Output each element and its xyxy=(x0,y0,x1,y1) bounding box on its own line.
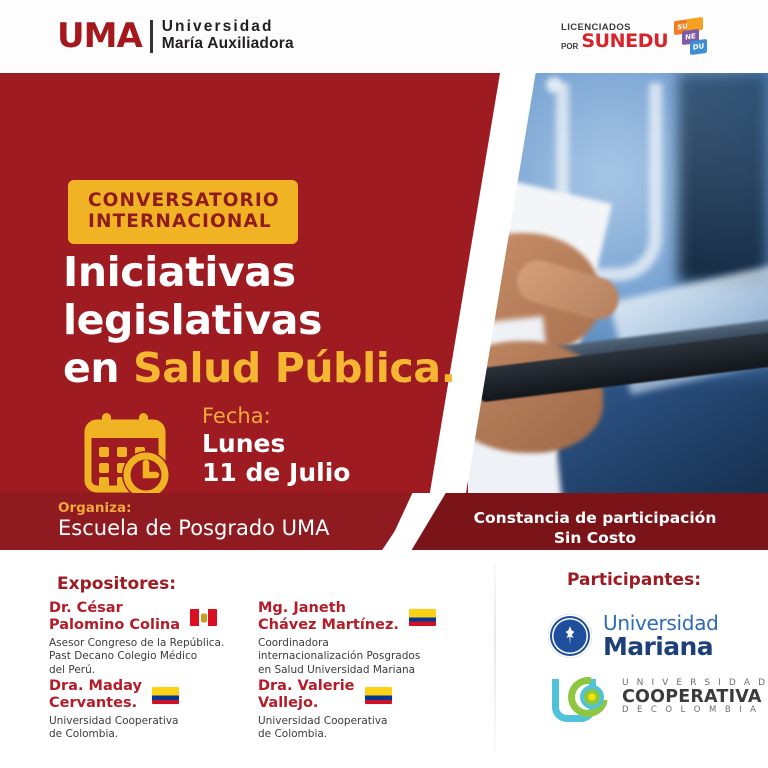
title-line3: en Salud Pública. xyxy=(63,345,463,393)
speaker-name-line2: Vallejo. xyxy=(258,695,355,712)
organizer-value: Escuela de Posgrado UMA xyxy=(58,516,330,542)
ucc-logo-line2: COOPERATIVA xyxy=(622,688,768,706)
title-line3-plain: en xyxy=(63,344,133,392)
universidad-mariana-logo: Universidad Mariana xyxy=(548,613,719,659)
speaker-card: Mg. Janeth Chávez Martínez. Coordinadora… xyxy=(258,600,473,677)
certificate-line2: Sin Costo xyxy=(440,528,750,548)
event-flyer: UMA Universidad María Auxiliadora LICENC… xyxy=(0,0,768,768)
speaker-card: Dra. Valerie Vallejo. Universidad Cooper… xyxy=(258,678,473,742)
speaker-name-line1: Dra. Maday xyxy=(49,678,142,695)
uma-acronym: UMA xyxy=(57,19,142,53)
title-line1: Iniciativas xyxy=(63,249,463,297)
speaker-role: Universidad Cooperativa de Colombia. xyxy=(258,715,473,742)
speaker-name: Dra. Valerie Vallejo. xyxy=(258,678,355,712)
ucc-target-shape xyxy=(580,685,604,709)
header: UMA Universidad María Auxiliadora LICENC… xyxy=(0,0,768,73)
speaker-card: Dr. César Palomino Colina Asesor Congres… xyxy=(49,600,249,677)
certificate-note: Constancia de participación Sin Costo xyxy=(440,508,750,549)
sunedu-block-du: DU xyxy=(690,39,707,55)
colombia-flag-icon xyxy=(409,609,436,626)
colombia-flag-icon xyxy=(152,687,179,704)
badge-line1: CONVERSATORIO xyxy=(88,191,280,212)
speaker-name: Dra. Maday Cervantes. xyxy=(49,678,142,712)
uma-logo: UMA Universidad María Auxiliadora xyxy=(57,19,294,53)
organizer-label: Organiza: xyxy=(58,500,330,516)
universidad-cooperativa-logo: U N I V E R S I D A D COOPERATIVA D E C … xyxy=(552,677,768,717)
hero-section: CONVERSATORIO INTERNACIONAL Iniciativas … xyxy=(0,73,768,493)
participants-heading: Participantes: xyxy=(500,570,768,590)
certificate-line1: Constancia de participación xyxy=(440,508,750,528)
logo-divider xyxy=(150,20,153,53)
ucc-logo-line3: D E C O L O M B I A xyxy=(622,706,768,715)
title-line2: legislativas xyxy=(63,297,463,345)
badge-line2: INTERNACIONAL xyxy=(88,212,280,233)
speaker-role: Asesor Congreso de la República. Past De… xyxy=(49,637,249,677)
sunedu-name: SUNEDU xyxy=(581,32,668,51)
footer-vertical-divider xyxy=(494,562,496,752)
event-type-badge: CONVERSATORIO INTERNACIONAL xyxy=(68,180,298,244)
colombia-flag-icon xyxy=(365,687,392,704)
sunedu-blocks-icon: SU NE DU xyxy=(674,18,712,56)
speaker-role: Coordinadora internacionalización Posgra… xyxy=(258,637,473,677)
speaker-name-line1: Dr. César xyxy=(49,600,180,617)
mariana-logo-line1: Universidad xyxy=(603,613,719,633)
uma-logo-subtitle: Universidad María Auxiliadora xyxy=(162,19,294,52)
mariana-seal-icon xyxy=(548,614,592,658)
sunedu-badge: LICENCIADOS POR SUNEDU SU NE DU xyxy=(561,18,712,56)
speaker-name-line2: Chávez Martínez. xyxy=(258,617,399,634)
date-time-block: Fecha: Lunes 11 de Julio Hora: 6:00 p. m… xyxy=(82,403,350,493)
title-line3-accent: Salud Pública. xyxy=(133,344,456,392)
speaker-name: Dr. César Palomino Colina xyxy=(49,600,180,634)
mariana-logo-line2: Mariana xyxy=(603,634,719,659)
speaker-name-line2: Cervantes. xyxy=(49,695,142,712)
date-value-line2: 11 de Julio xyxy=(202,458,350,487)
uma-logo-line1: Universidad xyxy=(162,19,294,36)
date-time-text: Fecha: Lunes 11 de Julio Hora: 6:00 p. m… xyxy=(202,403,350,493)
peru-flag-icon xyxy=(190,609,217,626)
stethoscope-earpiece xyxy=(546,77,562,93)
date-value-line1: Lunes xyxy=(202,429,350,458)
sunedu-text: LICENCIADOS POR SUNEDU xyxy=(561,23,668,52)
event-title: Iniciativas legislativas en Salud Públic… xyxy=(63,249,463,393)
speaker-card: Dra. Maday Cervantes. Universidad Cooper… xyxy=(49,678,249,742)
date-label: Fecha: xyxy=(202,403,350,429)
uma-logo-line2: María Auxiliadora xyxy=(162,36,294,53)
sunedu-por-label: POR xyxy=(561,43,578,51)
speaker-name-line2: Palomino Colina xyxy=(49,617,180,634)
organizer-block: Organiza: Escuela de Posgrado UMA xyxy=(58,500,330,542)
speakers-heading: Expositores: xyxy=(57,574,176,594)
ucc-mark-icon xyxy=(552,677,610,717)
calendar-clock-icon xyxy=(82,409,174,493)
speaker-name-line1: Mg. Janeth xyxy=(258,600,399,617)
speaker-name: Mg. Janeth Chávez Martínez. xyxy=(258,600,399,634)
speaker-name-line1: Dra. Valerie xyxy=(258,678,355,695)
speaker-role: Universidad Cooperativa de Colombia. xyxy=(49,715,249,742)
photo-background-shadow xyxy=(678,73,768,283)
